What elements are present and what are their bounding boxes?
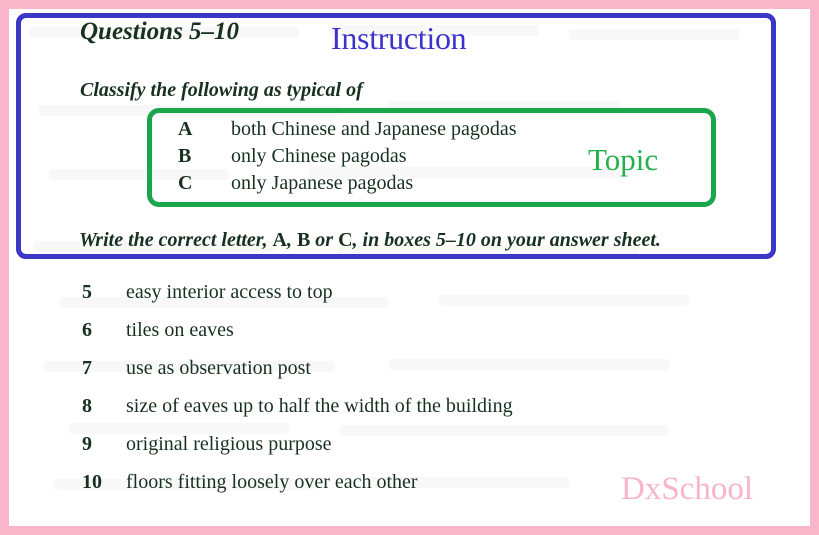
question-number: 8 bbox=[82, 395, 126, 418]
annotation-label-instruction: Instruction bbox=[331, 22, 466, 54]
list-item: B only Chinese pagodas bbox=[178, 145, 608, 172]
write-line-letter-b: B bbox=[297, 229, 310, 251]
answer-sheet-instruction: Write the correct letter, A, B or C, in … bbox=[79, 230, 661, 250]
table-row: 5 easy interior access to top bbox=[82, 281, 722, 319]
question-text: easy interior access to top bbox=[126, 281, 333, 304]
write-line-part1: Write the correct letter, bbox=[79, 229, 273, 251]
question-text: use as observation post bbox=[126, 357, 311, 380]
table-row: 9 original religious purpose bbox=[82, 433, 722, 471]
question-text: original religious purpose bbox=[126, 433, 332, 456]
question-number: 9 bbox=[82, 433, 126, 456]
write-line-letter-a: A bbox=[273, 229, 287, 251]
option-letter: A bbox=[178, 118, 231, 141]
table-row: 7 use as observation post bbox=[82, 357, 722, 395]
write-line-sep1: , bbox=[287, 229, 297, 251]
list-item: C only Japanese pagodas bbox=[178, 172, 608, 199]
question-number: 6 bbox=[82, 319, 126, 342]
worksheet-page: Questions 5–10 Instruction Classify the … bbox=[0, 0, 819, 535]
option-text: only Chinese pagodas bbox=[231, 145, 407, 168]
questions-heading: Questions 5–10 bbox=[80, 19, 239, 44]
question-text: tiles on eaves bbox=[126, 319, 234, 342]
question-number: 7 bbox=[82, 357, 126, 380]
watermark-brand: DxSchool bbox=[621, 473, 753, 506]
question-text: size of eaves up to half the width of th… bbox=[126, 395, 513, 418]
table-row: 8 size of eaves up to half the width of … bbox=[82, 395, 722, 433]
classify-instruction-text: Classify the following as typical of bbox=[80, 80, 363, 100]
question-number: 5 bbox=[82, 281, 126, 304]
table-row: 6 tiles on eaves bbox=[82, 319, 722, 357]
option-letter: B bbox=[178, 145, 231, 168]
option-text: both Chinese and Japanese pagodas bbox=[231, 118, 516, 141]
write-line-sep2: or bbox=[310, 229, 338, 251]
option-letter: C bbox=[178, 172, 231, 195]
question-number: 10 bbox=[82, 471, 126, 494]
classification-options-list: A both Chinese and Japanese pagodas B on… bbox=[178, 118, 608, 199]
option-text: only Japanese pagodas bbox=[231, 172, 413, 195]
write-line-letter-c: C bbox=[338, 229, 352, 251]
question-text: floors fitting loosely over each other bbox=[126, 471, 418, 494]
list-item: A both Chinese and Japanese pagodas bbox=[178, 118, 608, 145]
write-line-part2: , in boxes 5–10 on your answer sheet. bbox=[353, 229, 661, 251]
